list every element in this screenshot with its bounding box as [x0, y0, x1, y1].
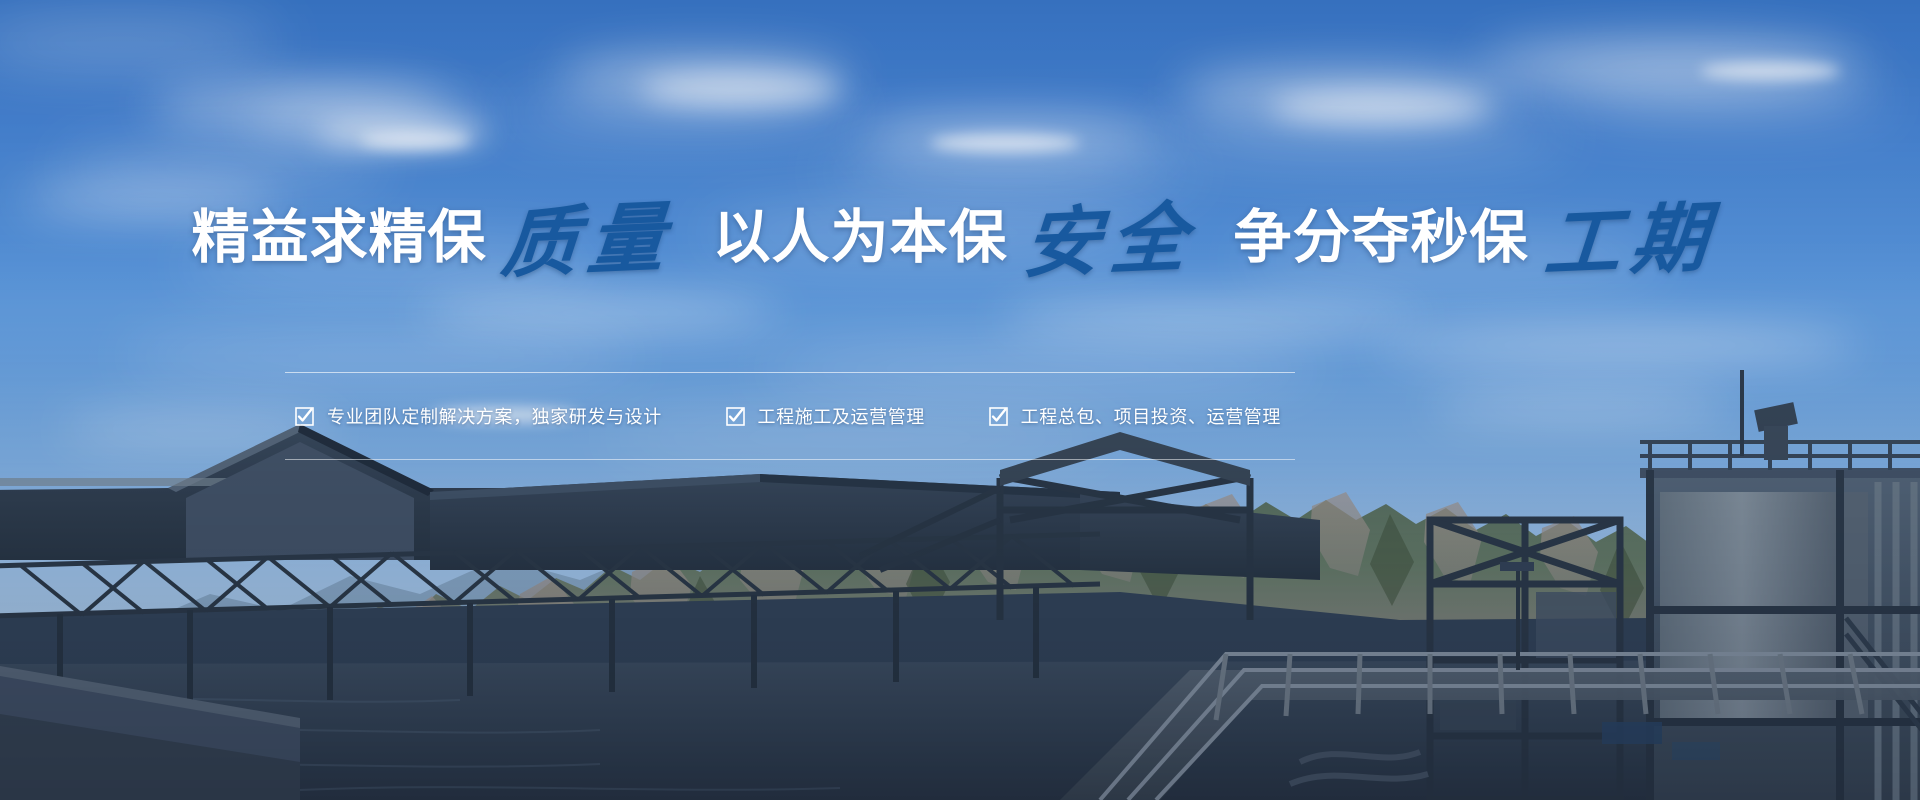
- feature-strip: 专业团队定制解决方案，独家研发与设计 工程施工及运营管理: [285, 372, 1295, 460]
- feature-list: 专业团队定制解决方案，独家研发与设计 工程施工及运营管理: [285, 373, 1295, 459]
- feature-item-epc: 工程总包、项目投资、运营管理: [989, 403, 1281, 429]
- headline-text-brush: 安全: [1004, 202, 1210, 281]
- feature-item-construction: 工程施工及运营管理: [726, 403, 925, 429]
- hero-banner: 精益求精保 质量 以人为本保 安全 争分夺秒保 工期: [0, 0, 1920, 800]
- checkbox-checked-icon: [726, 407, 745, 426]
- headline-slogan: 精益求精保 质量 以人为本保 安全 争分夺秒保 工期: [0, 196, 1920, 266]
- headline-text-white: 精益求精保: [191, 208, 486, 266]
- headline-segment-quality-prefix: 精益求精保: [191, 208, 486, 266]
- feature-label: 工程施工及运营管理: [758, 403, 925, 429]
- headline-segment-quality-brush: 质量: [486, 196, 686, 266]
- headline-segment-safety-prefix: 以人为本保: [712, 208, 1007, 266]
- headline-text-brush: 工期: [1525, 202, 1731, 281]
- headline-segment-schedule-brush: 工期: [1529, 196, 1729, 266]
- feature-item-solution: 专业团队定制解决方案，独家研发与设计: [295, 403, 662, 429]
- headline-segment-safety-brush: 安全: [1008, 196, 1208, 266]
- feature-label: 专业团队定制解决方案，独家研发与设计: [327, 403, 662, 429]
- headline-text-white: 争分夺秒保: [1234, 208, 1529, 266]
- divider-bottom: [285, 459, 1295, 460]
- headline-text-white: 以人为本保: [712, 208, 1007, 266]
- headline-text-brush: 质量: [483, 202, 689, 281]
- checkbox-checked-icon: [295, 407, 314, 426]
- checkbox-checked-icon: [989, 407, 1008, 426]
- feature-label: 工程总包、项目投资、运营管理: [1021, 403, 1281, 429]
- headline-segment-schedule-prefix: 争分夺秒保: [1234, 208, 1529, 266]
